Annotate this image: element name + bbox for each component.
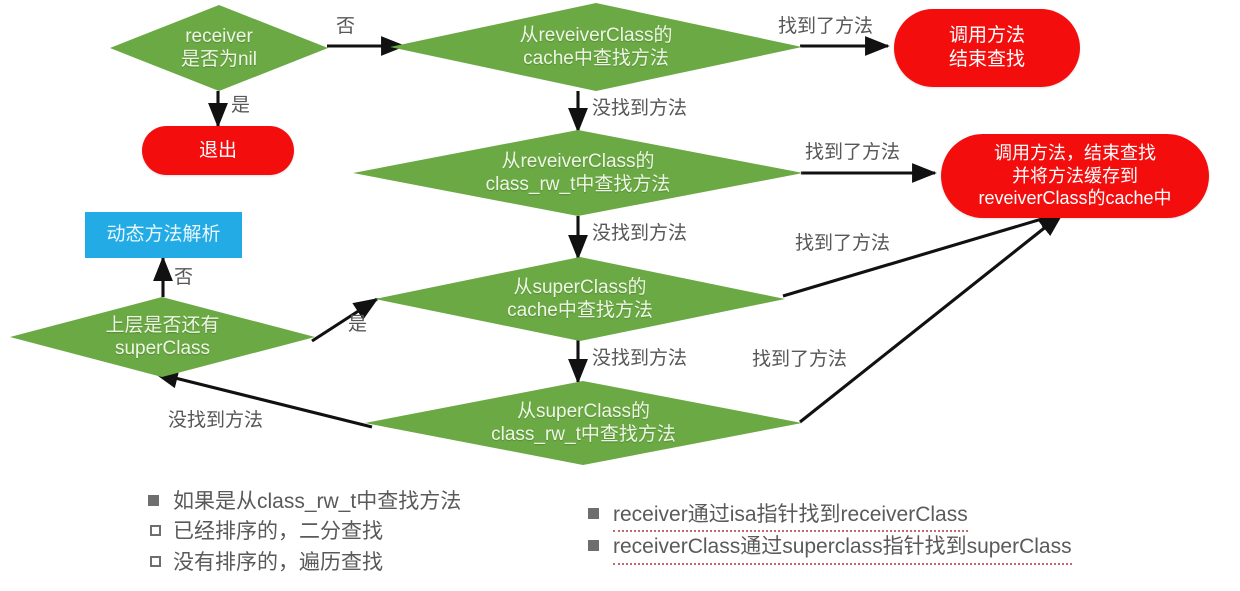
legend-text: 如果是从class_rw_t中查找方法 xyxy=(173,487,461,517)
edge-label-e5: 找到了方法 xyxy=(805,143,900,162)
node-dynamic-resolve[interactable]: 动态方法解析 xyxy=(85,212,242,258)
edge-label-e10: 没找到方法 xyxy=(168,411,263,430)
bullet-filled-icon xyxy=(148,495,159,506)
legend-left: 如果是从class_rw_t中查找方法 已经排序的，二分查找 没有排序的，遍历查… xyxy=(148,487,461,578)
edge-label-e11: 是 xyxy=(348,315,367,334)
legend-item: 没有排序的，遍历查找 xyxy=(150,548,461,578)
legend-right: receiver通过isa指针找到receiverClass receiverC… xyxy=(588,500,1072,565)
node-label: 从reveiverClass的 cache中查找方法 xyxy=(519,24,672,70)
node-has-superclass[interactable]: 上层是否还有 superClass xyxy=(10,297,315,377)
legend-text: 没有排序的，遍历查找 xyxy=(173,548,383,578)
node-label: 调用方法，结束查找 并将方法缓存到 reveiverClass的cache中 xyxy=(978,142,1171,210)
edge-label-e8: 没找到方法 xyxy=(592,349,687,368)
edge-label-e1: 否 xyxy=(336,17,355,36)
legend-text: receiver通过isa指针找到receiverClass xyxy=(613,500,968,532)
bullet-hollow-icon xyxy=(150,556,161,567)
edge-e7 xyxy=(783,213,1062,296)
edge-label-e3: 找到了方法 xyxy=(778,17,873,36)
legend-text: receiverClass通过superclass指针找到superClass xyxy=(613,532,1072,564)
node-receiver-nil[interactable]: receiver 是否为nil xyxy=(110,5,328,91)
node-label: 从superClass的 cache中查找方法 xyxy=(507,276,653,322)
node-label: 从superClass的 class_rw_t中查找方法 xyxy=(491,400,676,446)
legend-item: 已经排序的，二分查找 xyxy=(150,517,461,547)
node-label: 退出 xyxy=(199,139,237,163)
node-label: 上层是否还有 superClass xyxy=(105,314,219,360)
node-label: receiver 是否为nil xyxy=(181,25,257,71)
edge-label-e9: 找到了方法 xyxy=(752,350,847,369)
edge-label-e2: 是 xyxy=(231,96,250,115)
bullet-hollow-icon xyxy=(150,525,161,536)
bullet-filled-icon xyxy=(588,508,599,519)
edge-label-e12: 否 xyxy=(174,268,193,287)
node-call-end-cache[interactable]: 调用方法，结束查找 并将方法缓存到 reveiverClass的cache中 xyxy=(941,134,1209,218)
node-superclass-rwt[interactable]: 从superClass的 class_rw_t中查找方法 xyxy=(365,381,802,465)
node-label: 从reveiverClass的 class_rw_t中查找方法 xyxy=(486,150,671,196)
legend-item: receiverClass通过superclass指针找到superClass xyxy=(588,532,1072,564)
edge-label-e6: 没找到方法 xyxy=(592,224,687,243)
node-exit[interactable]: 退出 xyxy=(142,126,294,175)
edge-e11 xyxy=(312,299,377,341)
edge-label-e7: 找到了方法 xyxy=(795,234,890,253)
legend-text: 已经排序的，二分查找 xyxy=(173,517,383,547)
node-receiverclass-rwt[interactable]: 从reveiverClass的 class_rw_t中查找方法 xyxy=(353,130,803,216)
node-label: 调用方法 结束查找 xyxy=(949,24,1025,72)
legend-item: 如果是从class_rw_t中查找方法 xyxy=(148,487,461,517)
legend-item: receiver通过isa指针找到receiverClass xyxy=(588,500,1072,532)
node-call-and-end[interactable]: 调用方法 结束查找 xyxy=(894,9,1080,87)
flowchart-canvas: receiver 是否为nil 退出 从reveiverClass的 cache… xyxy=(0,0,1240,591)
node-superclass-cache[interactable]: 从superClass的 cache中查找方法 xyxy=(375,257,785,341)
edge-label-e4: 没找到方法 xyxy=(592,99,687,118)
node-receiverclass-cache[interactable]: 从reveiverClass的 cache中查找方法 xyxy=(390,3,802,91)
bullet-filled-icon xyxy=(588,540,599,551)
node-label: 动态方法解析 xyxy=(106,224,220,247)
